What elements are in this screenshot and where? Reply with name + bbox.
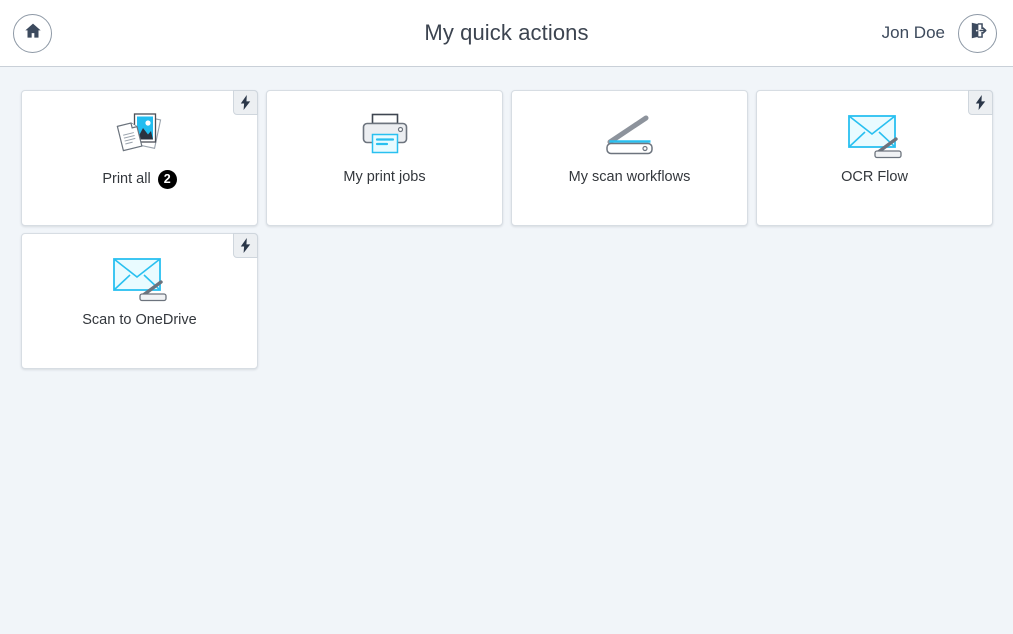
user-name-label: Jon Doe: [882, 23, 945, 43]
lightning-bolt-icon[interactable]: [233, 90, 258, 115]
card-label: OCR Flow: [841, 170, 908, 185]
card-label: Scan to OneDrive: [82, 313, 196, 328]
quick-action-card[interactable]: Scan to OneDrive: [21, 233, 258, 369]
header-user-area: Jon Doe: [882, 14, 997, 53]
card-label-row: My scan workflows: [569, 170, 691, 185]
card-label-row: My print jobs: [343, 170, 425, 185]
logout-button[interactable]: [958, 14, 997, 53]
lightning-bolt-icon[interactable]: [233, 233, 258, 258]
envelope-scanner-icon: [108, 252, 172, 304]
card-label-row: Scan to OneDrive: [82, 313, 196, 328]
card-label-row: OCR Flow: [841, 170, 908, 185]
home-icon: [23, 21, 43, 46]
quick-actions-content: Print all 2 My print jobs: [0, 67, 1013, 369]
envelope-scanner-icon: [843, 109, 907, 161]
card-label-row: Print all 2: [102, 170, 176, 189]
card-label: My scan workflows: [569, 170, 691, 185]
documents-stack-icon: [109, 109, 171, 161]
quick-action-card[interactable]: OCR Flow: [756, 90, 993, 226]
page-title: My quick actions: [0, 20, 1013, 46]
printer-icon: [356, 109, 414, 161]
scanner-icon: [598, 109, 662, 161]
home-button[interactable]: [13, 14, 52, 53]
quick-action-card[interactable]: My scan workflows: [511, 90, 748, 226]
card-label: Print all: [102, 172, 150, 187]
quick-action-card[interactable]: My print jobs: [266, 90, 503, 226]
status-badge: 2: [158, 170, 177, 189]
card-label: My print jobs: [343, 170, 425, 185]
quick-actions-grid: Print all 2 My print jobs: [21, 90, 1006, 369]
quick-action-card[interactable]: Print all 2: [21, 90, 258, 226]
app-header: My quick actions Jon Doe: [0, 0, 1013, 67]
lightning-bolt-icon[interactable]: [968, 90, 993, 115]
logout-icon: [967, 20, 988, 46]
